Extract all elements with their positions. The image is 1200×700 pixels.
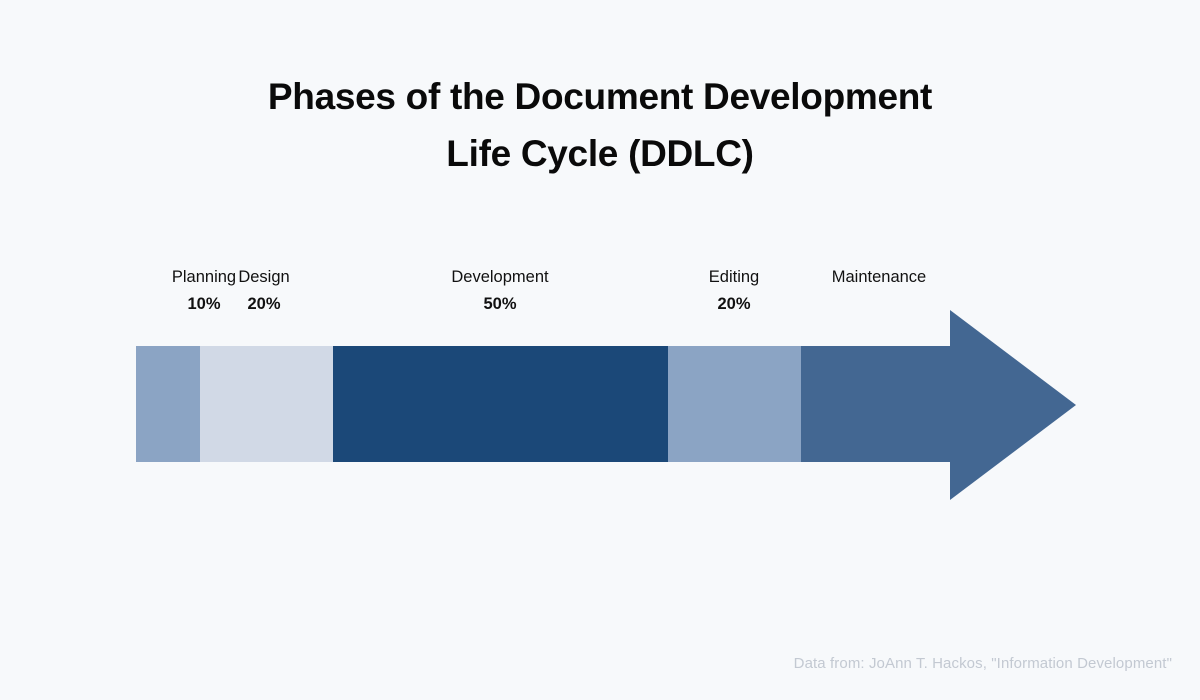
segment-design [200,346,333,462]
segment-development [333,346,668,462]
phase-arrow-graphic [0,0,1200,700]
segment-editing [668,346,801,462]
segment-maintenance-body [801,346,951,462]
data-source-attribution: Data from: JoAnn T. Hackos, "Information… [794,655,1172,672]
segment-maintenance-arrowhead [950,310,1076,500]
segment-planning [136,346,200,462]
ddlc-arrow-chart: Planning 10% Design 20% Development 50% … [0,0,1200,700]
